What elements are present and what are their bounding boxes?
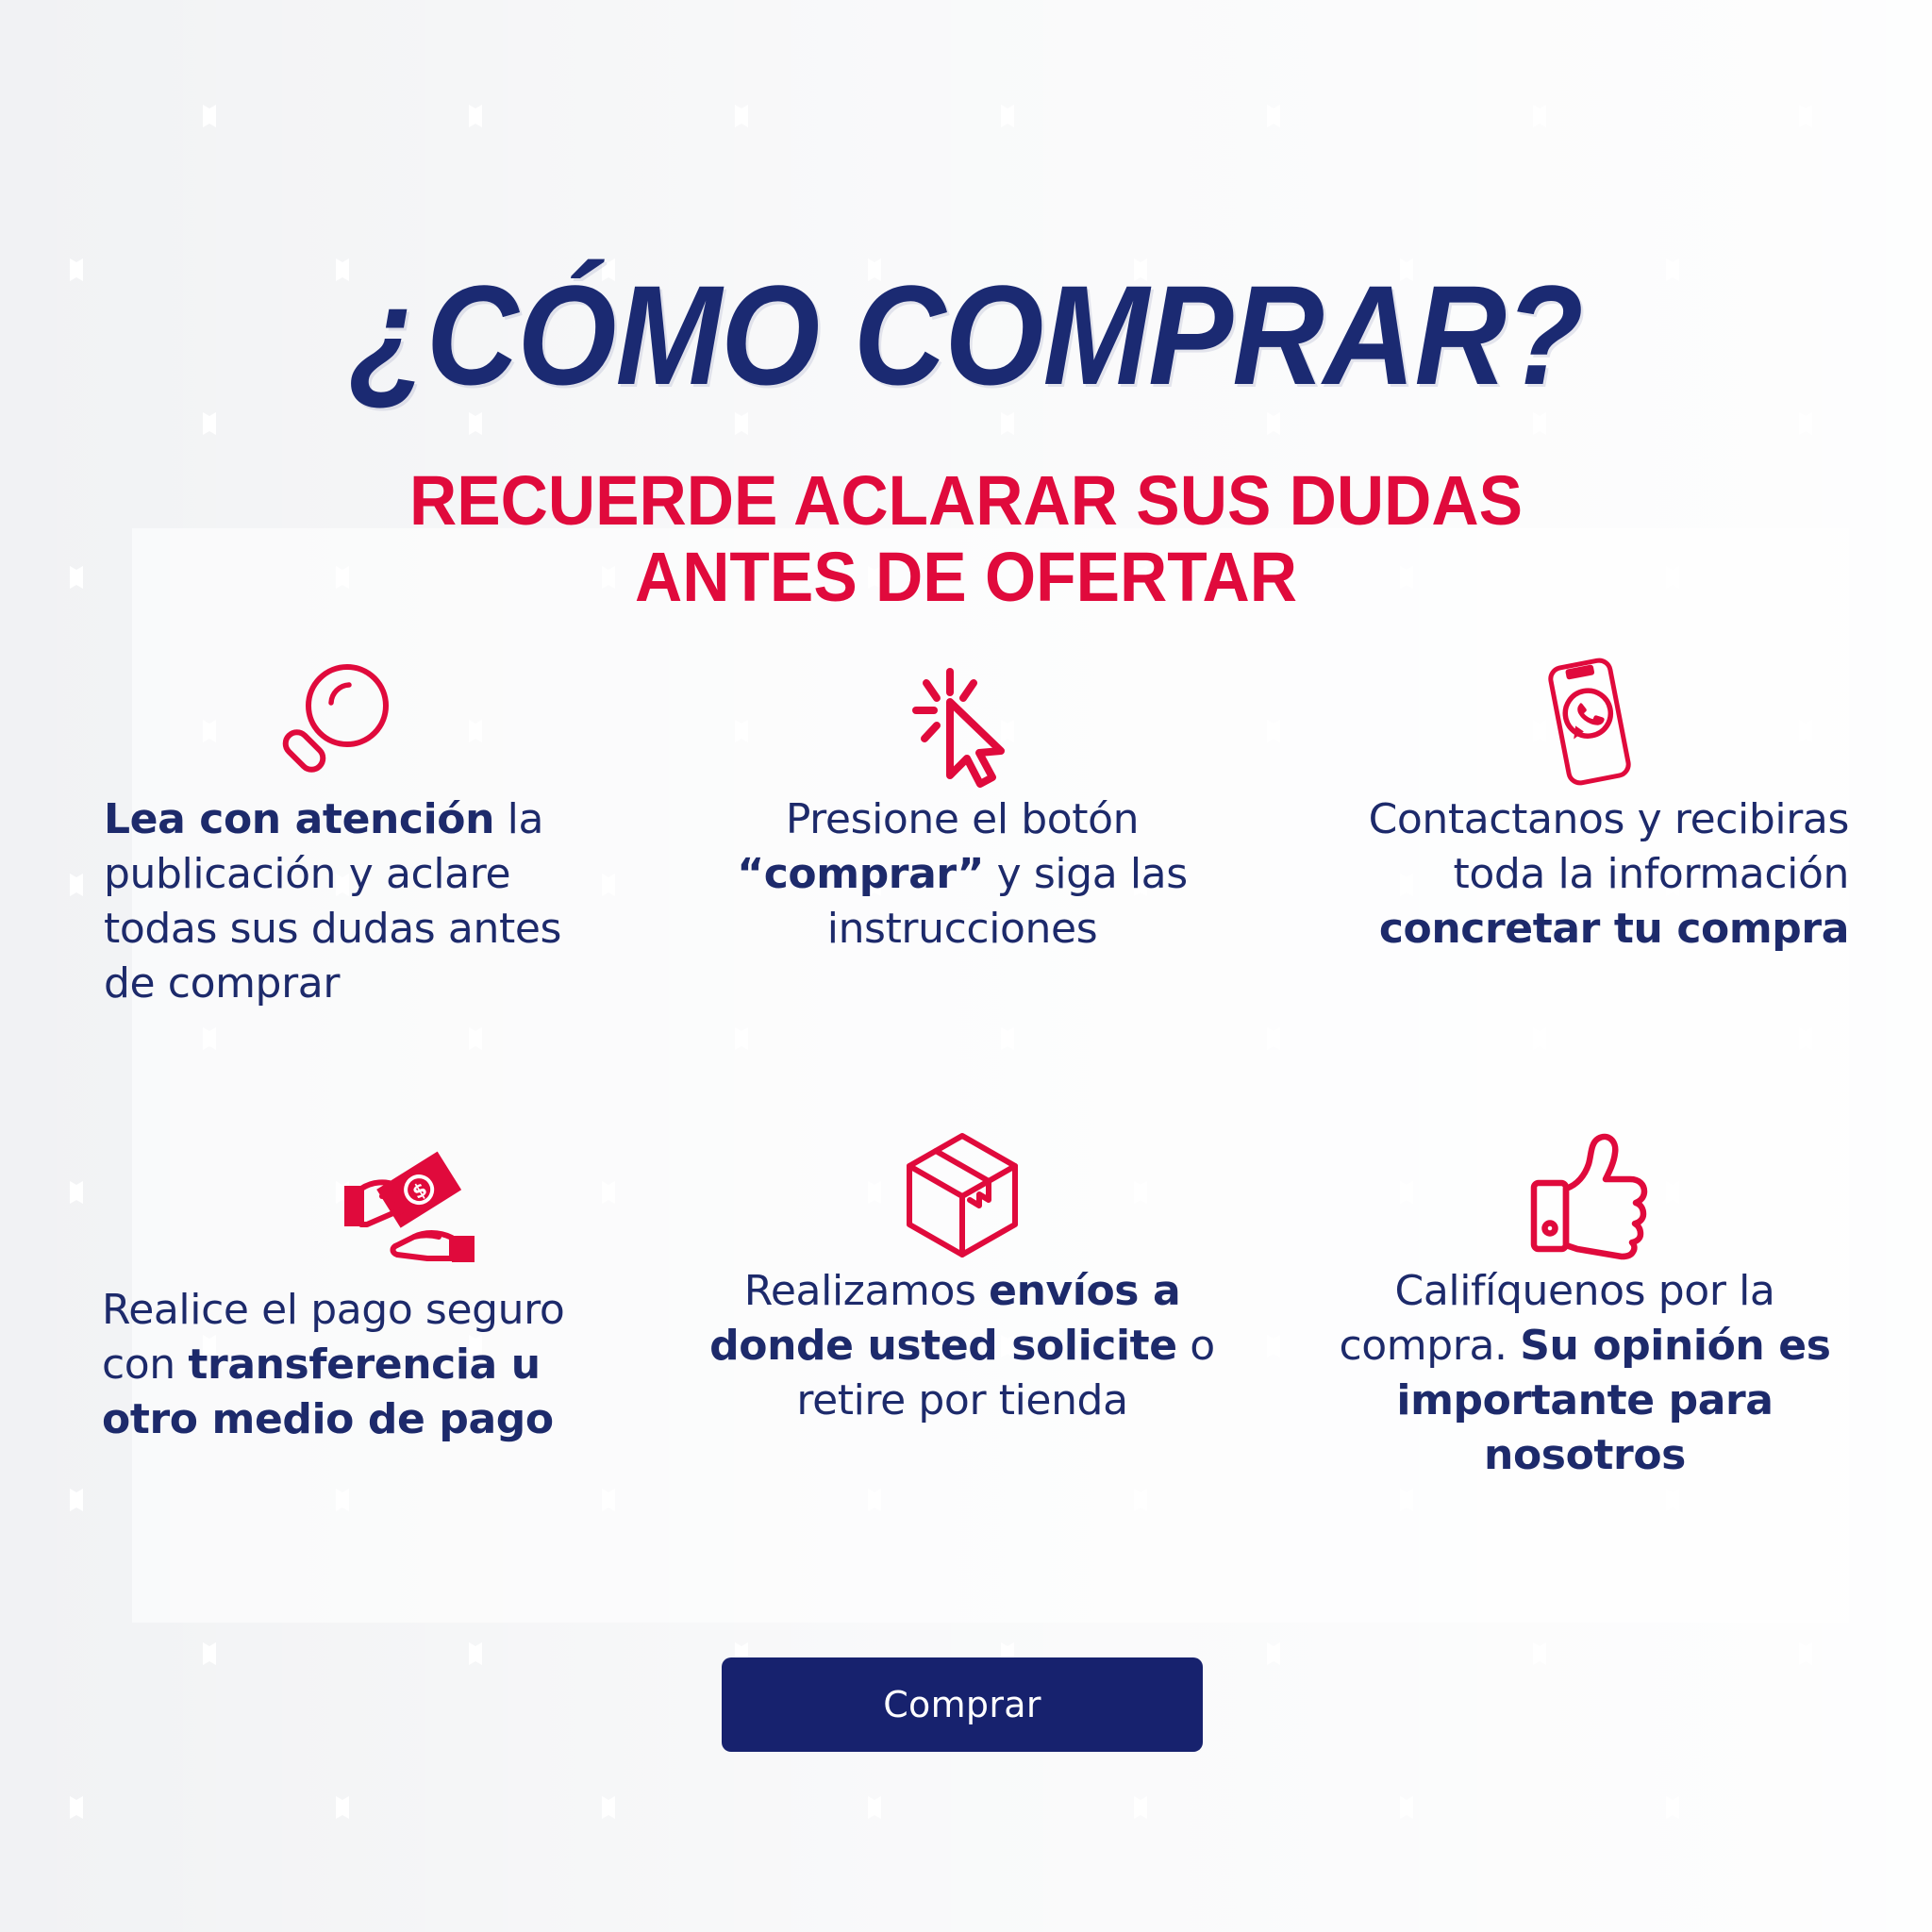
step-6-icon-container <box>1321 1123 1849 1264</box>
step-3-text: Contactanos y recibiras toda la informac… <box>1311 792 1849 957</box>
step-6-text: Califíquenos por la compra. Su opinión e… <box>1321 1264 1849 1483</box>
step-item-rate-us: Califíquenos por la compra. Su opinión e… <box>1321 1123 1849 1483</box>
thumbs-up-icon <box>1519 1123 1651 1264</box>
page-subtitle-line-2: ANTES DE OFERTAR <box>58 539 1874 615</box>
infographic-page: ¿CÓMO COMPRAR? RECUERDE ACLARAR SUS DUDA… <box>0 0 1932 1932</box>
step-item-press-buy: Presione el botón “comprar” y siga las i… <box>698 651 1226 957</box>
step-item-shipping: Realizamos envíos a donde usted solicite… <box>698 1123 1226 1428</box>
step-item-contact-us: Contactanos y recibiras toda la informac… <box>1311 651 1849 957</box>
magnifier-icon <box>272 660 396 792</box>
page-subtitle-container: RECUERDE ACLARAR SUS DUDAS ANTES DE OFER… <box>0 462 1932 616</box>
step-3-icon-container <box>1311 651 1849 792</box>
step-2-icon-container <box>698 651 1226 792</box>
page-subtitle-line-1: RECUERDE ACLARAR SUS DUDAS <box>58 462 1874 539</box>
step-5-text: Realizamos envíos a donde usted solicite… <box>698 1264 1226 1428</box>
step-4-text: Realice el pago seguro con transferencia… <box>102 1283 611 1447</box>
step-5-icon-container <box>698 1123 1226 1264</box>
step-2-text: Presione el botón “comprar” y siga las i… <box>698 792 1226 957</box>
click-cursor-icon <box>906 660 1019 792</box>
step-1-icon-container <box>104 651 613 792</box>
comprar-button[interactable]: Comprar <box>722 1657 1203 1752</box>
step-item-secure-payment: $ Realice el pago seguro con transfe <box>102 1141 611 1447</box>
step-1-text: Lea con atención la publicación y aclare… <box>104 792 613 1011</box>
page-title: ¿CÓMO COMPRAR? <box>96 264 1835 406</box>
step-4-icon-container: $ <box>102 1141 611 1283</box>
steps-grid: Lea con atención la publicación y aclare… <box>0 651 1932 1594</box>
package-box-icon <box>896 1123 1028 1264</box>
step-item-read-carefully: Lea con atención la publicación y aclare… <box>104 651 613 1011</box>
whatsapp-phone-icon <box>1528 651 1651 792</box>
page-title-container: ¿CÓMO COMPRAR? <box>0 264 1932 406</box>
money-hands-icon: $ <box>333 1141 493 1283</box>
